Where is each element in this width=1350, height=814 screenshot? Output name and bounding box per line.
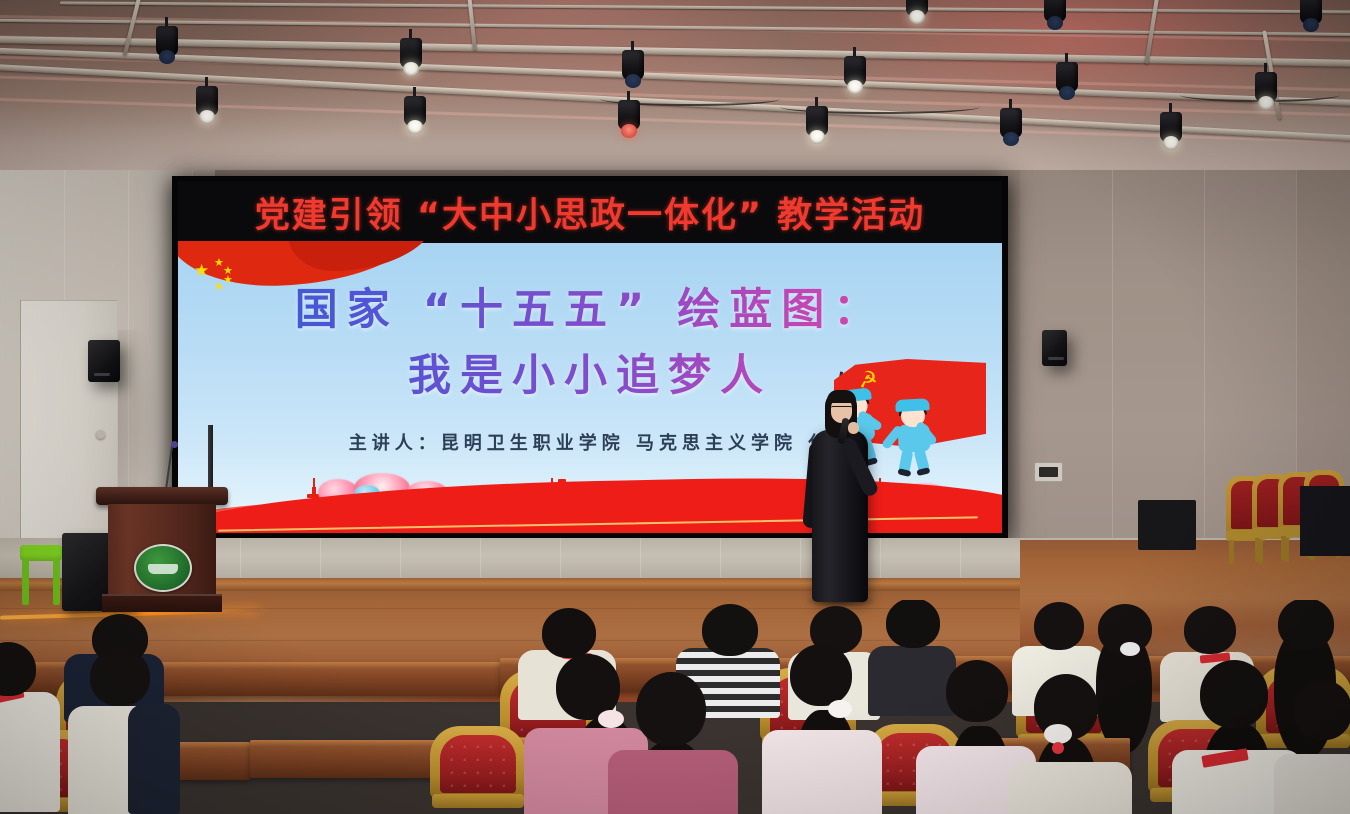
presenter <box>800 388 880 626</box>
led-screen[interactable]: 党建引领 “大中小思政一体化” 教学活动 ★ ★ ★ ★ ★ 国家 “十五五” … <box>172 176 1008 538</box>
microphone-capsule-icon <box>171 441 178 448</box>
audience-area <box>0 600 1350 814</box>
wooden-podium[interactable] <box>108 487 216 612</box>
hair-tie-icon <box>1052 742 1064 754</box>
door-handle-icon[interactable] <box>96 430 105 439</box>
podium-stand-pole <box>208 425 213 491</box>
hair-tie-icon <box>828 700 852 718</box>
eyeglasses-icon <box>831 406 852 413</box>
ceiling <box>0 0 1350 178</box>
slide-header-text: 党建引领 “大中小思政一体化” 教学活动 <box>178 187 1002 238</box>
slide-header-band: 党建引领 “大中小思政一体化” 教学活动 <box>178 181 1002 243</box>
green-stool[interactable] <box>20 545 62 607</box>
slide-title-line-1: 国家 “十五五” 绘蓝图： <box>178 275 1002 337</box>
hair-tie-icon <box>1044 724 1072 744</box>
wall-speaker-icon <box>1042 330 1067 366</box>
school-crest-icon <box>134 544 192 592</box>
av-cabinet <box>1300 486 1350 556</box>
auditorium-photo: 党建引领 “大中小思政一体化” 教学活动 ★ ★ ★ ★ ★ 国家 “十五五” … <box>0 0 1350 814</box>
av-cabinet <box>1138 500 1196 550</box>
ceiling-pipe <box>0 19 1350 37</box>
hair-tie-icon <box>1120 642 1140 656</box>
wall-outlet-plate[interactable] <box>1034 462 1063 482</box>
banquet-chair[interactable] <box>430 726 526 814</box>
hair-tie-icon <box>598 710 624 728</box>
wall-speaker-icon <box>88 340 120 382</box>
truss-brace <box>123 0 141 56</box>
